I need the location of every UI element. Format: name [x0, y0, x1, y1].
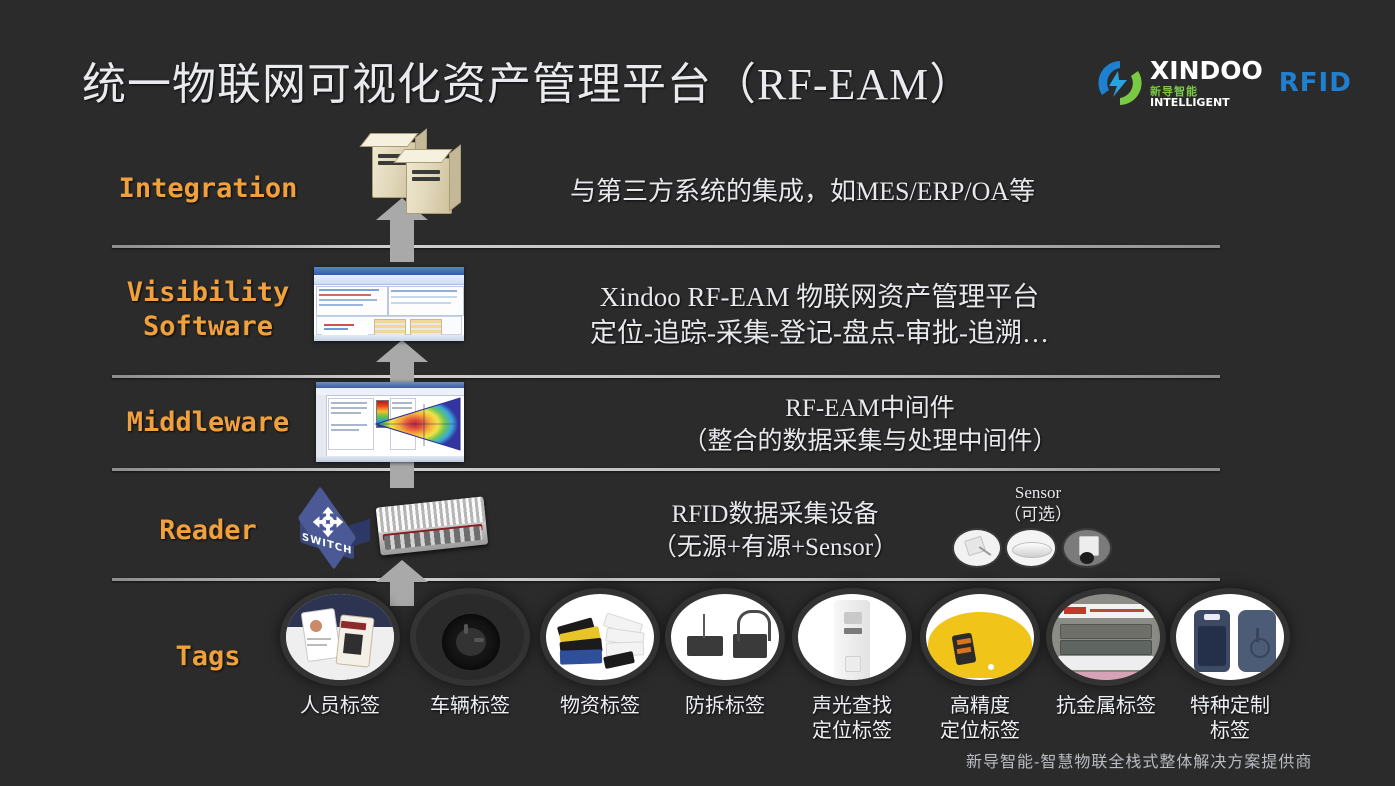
tag-photo-vehicle	[410, 588, 530, 686]
footer-slogan: 新导智能-智慧物联全栈式整体解决方案提供商	[966, 748, 1312, 772]
tag-caption-custom-special: 特种定制 标签	[1155, 694, 1305, 744]
xindoo-mark-icon	[1096, 59, 1144, 107]
tag-caption-personnel: 人员标签	[265, 694, 415, 719]
tag-caption-vehicle: 车辆标签	[395, 694, 545, 719]
layer-label-integration: Integration	[78, 172, 338, 206]
tag-caption-line2: 标签	[1155, 719, 1305, 744]
server-stack-icon	[364, 142, 460, 212]
tag-photo-anti-metal	[1046, 588, 1166, 686]
desc-visibility-line1: Xindoo RF-EAM 物联网资产管理平台	[590, 280, 1049, 316]
sensor-subtitle: （可选）	[978, 504, 1098, 526]
tag-caption-line1: 人员标签	[265, 694, 415, 719]
desc-reader: RFID数据采集设备 （无源+有源+Sensor）	[565, 498, 985, 564]
layer-label-visibility: Visibility Software	[78, 276, 338, 344]
tag-caption-line1: 特种定制	[1155, 694, 1305, 719]
divider-integration-visibility	[112, 245, 1220, 248]
network-switch-icon: SWITCH	[292, 495, 380, 563]
tag-photo-material	[540, 588, 660, 686]
desc-visibility-line2: 定位-追踪-采集-登记-盘点-审批-追溯…	[590, 316, 1049, 352]
server-icon-front	[406, 158, 452, 214]
divider-middleware-reader	[112, 468, 1220, 471]
page-title: 统一物联网可视化资产管理平台（RF-EAM）	[82, 48, 974, 112]
logo-tagline: 新导智能INTELLIGENT	[1150, 86, 1263, 108]
desc-integration: 与第三方系统的集成，如MES/ERP/OA等	[570, 175, 1035, 209]
logo-brand-en: INTELLIGENT	[1150, 96, 1230, 109]
tag-photo-custom-special	[1170, 588, 1290, 686]
desc-reader-line2: （无源+有源+Sensor）	[565, 531, 985, 564]
tag-caption-line2: 定位标签	[905, 719, 1055, 744]
logo-brand: XINDOO	[1150, 58, 1263, 83]
divider-reader-tags	[112, 578, 1220, 581]
sensor-box-icon	[1062, 528, 1112, 568]
rfid-reader-device-icon	[376, 496, 488, 555]
desc-middleware-line2: （整合的数据采集与处理中间件）	[560, 425, 1180, 458]
sensor-group-label: Sensor （可选）	[978, 482, 1098, 526]
brand-logo: XINDOO 新导智能INTELLIGENT RFID	[1096, 58, 1344, 108]
desc-reader-line1: RFID数据采集设备	[565, 498, 985, 531]
sensor-title: Sensor	[978, 482, 1098, 504]
tag-photo-tamper-proof	[665, 588, 785, 686]
desc-visibility: Xindoo RF-EAM 物联网资产管理平台 定位-追踪-采集-登记-盘点-审…	[590, 280, 1049, 351]
tag-photo-high-precision	[920, 588, 1040, 686]
tag-photo-personnel	[280, 588, 400, 686]
divider-visibility-middleware	[112, 375, 1220, 378]
software-screenshot-thumbnail	[314, 267, 464, 341]
tag-photo-audible-locator	[792, 588, 912, 686]
rf-heatmap-screenshot-thumbnail	[316, 382, 464, 462]
tag-caption-line1: 车辆标签	[395, 694, 545, 719]
slide-canvas: 统一物联网可视化资产管理平台（RF-EAM） XINDOO 新导智能INTELL…	[0, 0, 1395, 786]
layer-label-visibility-line2: Software	[78, 310, 338, 344]
layer-label-visibility-line1: Visibility	[78, 276, 338, 310]
sensor-probe-icon	[952, 528, 1002, 568]
layer-label-middleware: Middleware	[78, 406, 338, 440]
desc-middleware: RF-EAM中间件 （整合的数据采集与处理中间件）	[560, 392, 1180, 458]
desc-middleware-line1: RF-EAM中间件	[560, 392, 1180, 425]
logo-suffix: RFID	[1279, 68, 1352, 98]
sensor-disc-icon	[1005, 528, 1057, 568]
logo-wordmark: XINDOO 新导智能INTELLIGENT	[1150, 58, 1263, 108]
